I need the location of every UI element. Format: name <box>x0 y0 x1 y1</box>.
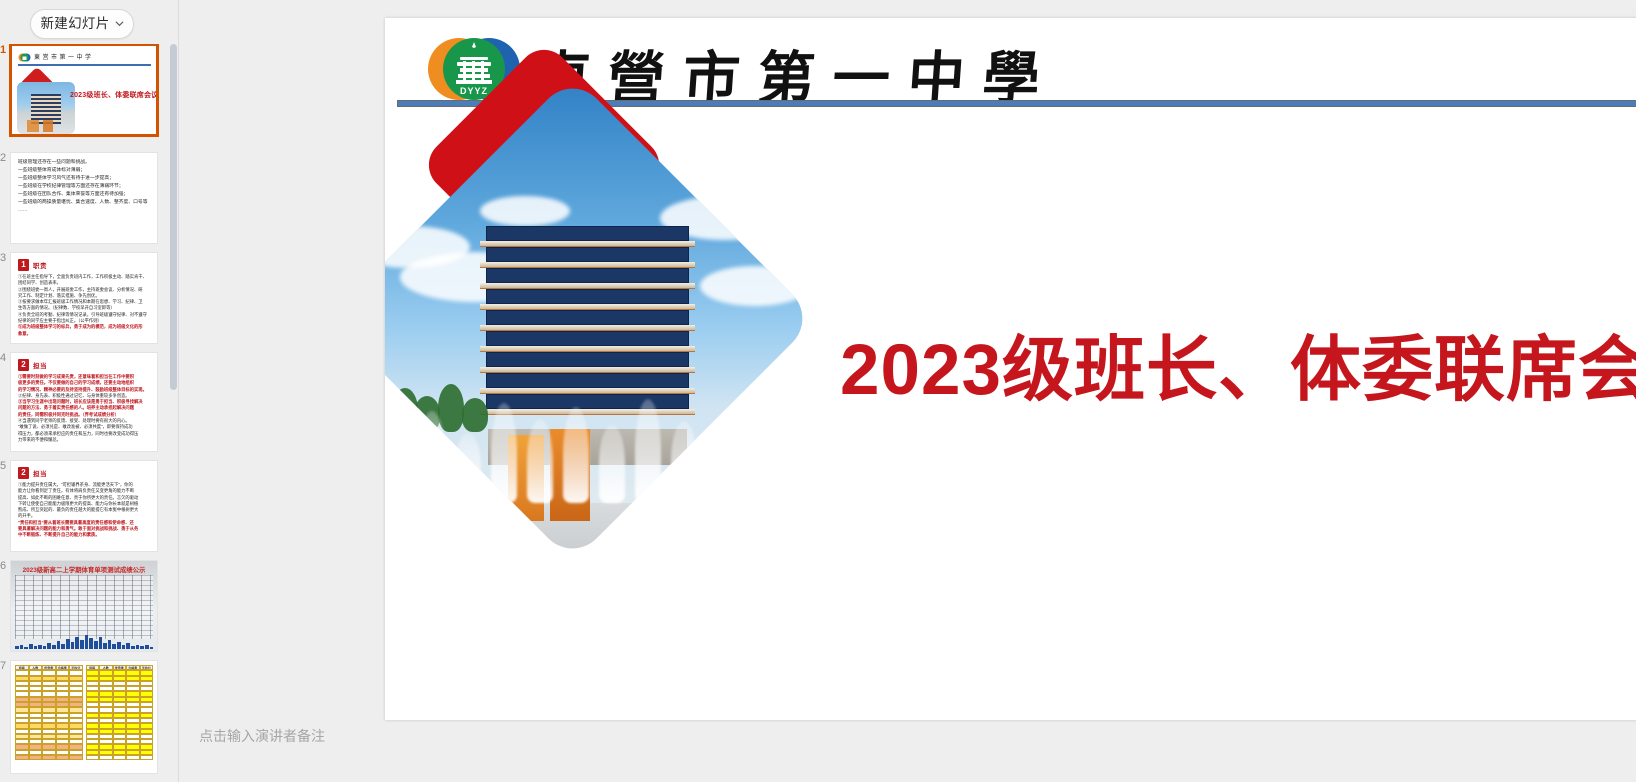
text-line: 极更多的责任。不仅要做的自己的学习成绩，还要主动地组织 <box>18 380 150 386</box>
thumbnail-section-body: 2 担当 ①能力提升责任属大。"可担输界茶身、流能更活天下"，你的 能力让你看到… <box>11 461 157 551</box>
table-row <box>86 755 154 760</box>
slide-number: 7 <box>0 660 10 672</box>
list-item[interactable]: 4 2 担当 ①需要时刻做的学习成果先责，还意味着和担当在工作中要积 极更多的责… <box>0 352 170 456</box>
slide-thumbnail-2[interactable]: 班级管理还存在一些问题和挑战。 一些班级整体育成体标对薄弱； 一些班级整体学习风… <box>10 152 158 244</box>
thumbnail-section-body: 2 担当 ①需要时刻做的学习成果先责，还意味着和担当在工作中要积 极更多的责任。… <box>11 353 157 451</box>
table-image: 班级人数优秀率合格率平均分 <box>11 661 157 773</box>
slide-number: 4 <box>0 352 10 364</box>
thumbnail-scrollbar[interactable] <box>170 44 177 390</box>
header-rule <box>18 64 151 66</box>
text-line: ②围绕班委一周人，开展班委工作，主持班委会议、分析情况、研 <box>18 287 150 293</box>
slide-thumbnail-3[interactable]: 1 职责 ①在班主任指导下，全面负责班内工作，工作积极主动、踏实肯干、 团结同学… <box>10 252 158 344</box>
slide-thumbnail-7[interactable]: 班级人数优秀率合格率平均分 <box>10 660 158 774</box>
section-heading: 2 担当 <box>18 359 150 371</box>
new-slide-button[interactable]: 新建幻灯片 <box>30 9 134 39</box>
table-right: 班级人数优秀率合格率平均分 <box>86 665 154 769</box>
slide-number: 5 <box>0 460 10 472</box>
list-item[interactable]: 7 班级人数优秀率合格率平均分 <box>0 660 170 778</box>
thumbnail-school-name: 東営市第一中学 <box>34 52 94 61</box>
speaker-notes-placeholder[interactable]: 点击输入演讲者备注 <box>199 726 325 746</box>
text-line: 一些班级整体学习风气还有待于进一步提高； <box>18 175 150 183</box>
thumbnail-section-body: 1 职责 ①在班主任指导下，全面负责班内工作，工作积极主动、踏实肯干、 团结同学… <box>11 253 157 343</box>
slide-number: 6 <box>0 560 10 572</box>
text-line: “敢做了说、必须兑是、敢改准被、必须共度”，即要保持成功 <box>18 424 150 430</box>
school-logo-icon <box>18 51 31 64</box>
slide-number: 3 <box>0 252 10 264</box>
text-line: 一些班级整体育成体标对薄弱； <box>18 167 150 175</box>
page-title[interactable]: 2023级班长、体委联席会议 <box>840 335 1620 406</box>
slide-number: 2 <box>0 152 10 164</box>
list-item[interactable]: 6 2023级新高二上学期体育单项测试成绩公示 <box>0 560 170 656</box>
section-heading-label: 职责 <box>33 260 47 270</box>
fountains <box>385 383 755 503</box>
text-line: 中不断锻炼、不断提升自己的能力和素质。 <box>18 532 150 538</box>
section-badge: 2 <box>18 467 29 479</box>
list-item[interactable]: 3 1 职责 ①在班主任指导下，全面负责班内工作，工作积极主动、踏实肯干、 团结… <box>0 252 170 348</box>
chart-title: 2023级新高二上学期体育单项测试成绩公示 <box>11 565 157 574</box>
chart-grid <box>15 575 153 639</box>
text-line: 班级管理还存在一些问题和挑战。 <box>18 159 150 167</box>
section-heading: 1 职责 <box>18 259 150 271</box>
text-line: 一些班级的两操质量堪忧、集合速度、人数、整齐度、口号等 <box>18 199 150 207</box>
slide-thumbnail-4[interactable]: 2 担当 ①需要时刻做的学习成果先责，还意味着和担当在工作中要积 极更多的责任。… <box>10 352 158 452</box>
slide-thumbnail-1[interactable]: 東営市第一中学 2023级班长、体委联席会议 <box>10 44 158 136</box>
section-heading-label: 担当 <box>33 360 47 370</box>
list-item[interactable]: 2 班级管理还存在一些问题和挑战。 一些班级整体育成体标对薄弱； 一些班级整体学… <box>0 152 170 248</box>
text-line: 力带来的不便和懈怠。 <box>18 437 150 443</box>
chart-bars <box>15 633 153 649</box>
section-heading-label: 担当 <box>33 468 47 478</box>
text-line: 一些班级在学校纪律管理等方面还存在薄弱环节； <box>18 183 150 191</box>
text-line: ⑤成为班级整体学习的标兵，勇于成为的模范，成为班级文化的形 <box>18 324 150 330</box>
text-line: 熊成、所互突起的、最负的责任越大的能提它有本冤中根树更大 <box>18 507 150 513</box>
text-line: 问题的方法、勇于着实责任感的人。培养主动承担起解决问题 <box>18 405 150 411</box>
list-item[interactable]: 5 2 担当 ①能力提升责任属大。"可担输界茶身、流能更活天下"，你的 能力让你… <box>0 460 170 556</box>
slide-editor-area: DYYZ 東營市第一中學 <box>179 0 1636 782</box>
new-slide-button-label: 新建幻灯片 <box>41 17 110 31</box>
chevron-down-icon[interactable] <box>115 19 124 28</box>
school-photo <box>17 82 75 134</box>
section-badge: 1 <box>18 259 29 271</box>
slide-number: 1 <box>0 44 10 56</box>
thumbnail-text-body: 班级管理还存在一些问题和挑战。 一些班级整体育成体标对薄弱； 一些班级整体学习风… <box>11 153 157 243</box>
chart-image: 2023级新高二上学期体育单项测试成绩公示 <box>11 561 157 651</box>
text-line: …… <box>18 207 150 215</box>
text-line: 的学习情况、精神必要的及持坚持提升、鼓励班级整体目标的实现。 <box>18 387 150 393</box>
thumbnail-list[interactable]: 1 東営市第一中学 <box>0 44 178 782</box>
list-item[interactable]: 1 東営市第一中学 <box>0 44 170 140</box>
text-line: 提高、如此不断的困难任意、责于你所更大的责任。言欠的驱动 <box>18 495 150 501</box>
table-left: 班级人数优秀率合格率平均分 <box>15 665 83 769</box>
slide-thumbnail-6[interactable]: 2023级新高二上学期体育单项测试成绩公示 <box>10 560 158 652</box>
presentation-editor-window: 新建幻灯片 1 <box>0 0 1636 782</box>
text-line: 一些班级在团队合作、集体荣誉等方面还有待加强； <box>18 191 150 199</box>
section-badge: 2 <box>18 359 29 371</box>
text-line: 象意。 <box>18 331 150 337</box>
slide-canvas[interactable]: DYYZ 東營市第一中學 <box>385 18 1636 720</box>
slide-thumbnail-5[interactable]: 2 担当 ①能力提升责任属大。"可担输界茶身、流能更活天下"，你的 能力让你看到… <box>10 460 158 552</box>
text-line: 能力让你看到足了责任。有体将肩负责任又变更角的能力不断 <box>18 488 150 494</box>
thumbnail-title: 2023级班长、体委联席会议 <box>70 90 158 100</box>
table-row <box>15 755 83 760</box>
section-heading: 2 担当 <box>18 467 150 479</box>
slide-thumbnail-panel: 新建幻灯片 1 <box>0 0 178 782</box>
svg-text:DYYZ: DYYZ <box>460 86 488 96</box>
